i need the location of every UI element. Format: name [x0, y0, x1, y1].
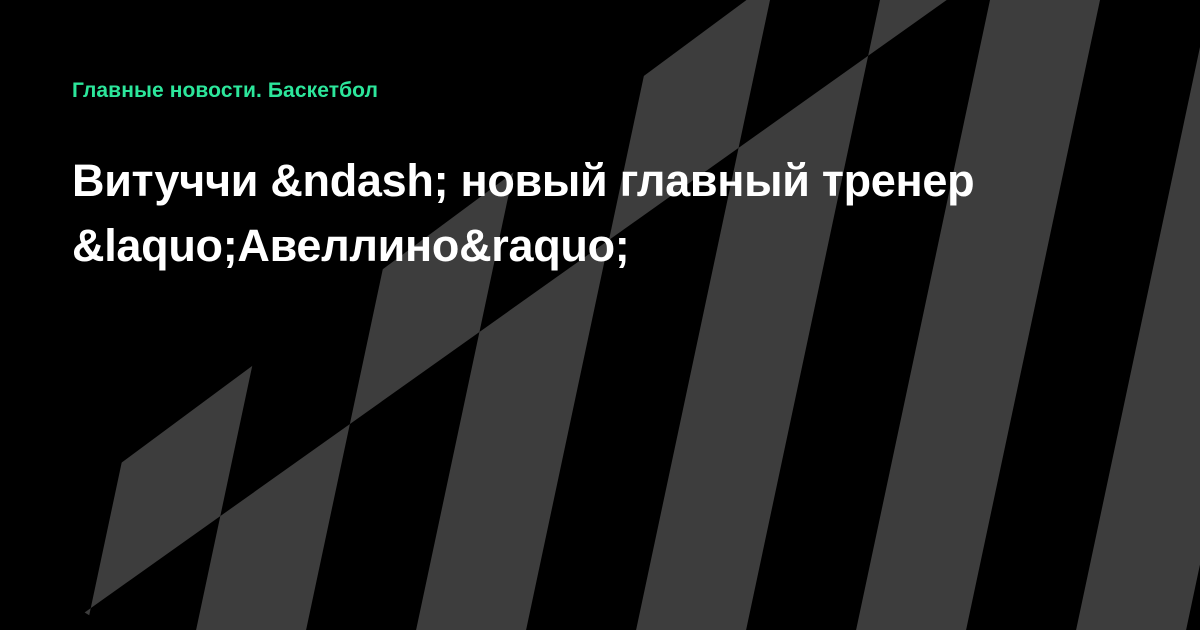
headline-line-2: &laquo;Авеллино&raquo; [72, 213, 1112, 278]
card-kicker: Главные новости. Баскетбол [72, 78, 1128, 104]
pattern-lower-left-mask [0, 555, 130, 630]
card-content: Главные новости. Баскетбол Витуччи &ndas… [0, 0, 1200, 278]
headline-line-1: Витуччи &ndash; новый главный тренер [72, 148, 1112, 213]
card-headline: Витуччи &ndash; новый главный тренер &la… [72, 148, 1112, 278]
social-share-card: Главные новости. Баскетбол Витуччи &ndas… [0, 0, 1200, 630]
